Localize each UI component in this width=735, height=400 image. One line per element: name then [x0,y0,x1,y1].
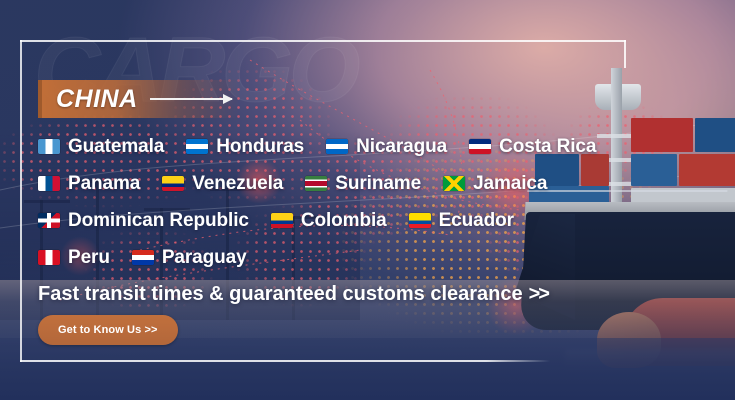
destination-row: GuatemalaHondurasNicaraguaCosta Rica [38,128,678,165]
destination-name: Colombia [301,210,387,232]
destination-item[interactable]: Colombia [271,210,387,232]
destination-item[interactable]: Guatemala [38,136,164,158]
destination-name: Venezuela [192,173,283,195]
banner-content: CHINA GuatemalaHondurasNicaraguaCosta Ri… [0,0,735,400]
destination-row: PanamaVenezuelaSurinameJamaica [38,165,678,202]
destination-name: Paraguay [162,247,247,269]
destination-item[interactable]: Suriname [305,173,421,195]
destination-name: Peru [68,247,110,269]
destination-item[interactable]: Nicaragua [326,136,447,158]
flag-nicaragua-icon [326,139,348,154]
tagline: Fast transit times & guaranteed customs … [38,283,548,306]
destination-name: Jamaica [473,173,547,195]
destination-item[interactable]: Venezuela [162,173,283,195]
flag-peru-icon [38,250,60,265]
destination-name: Nicaragua [356,136,447,158]
flag-guatemala-icon [38,139,60,154]
long-right-arrow-icon [150,98,232,100]
flag-jamaica-icon [443,176,465,191]
flag-paraguay-icon [132,250,154,265]
destination-row: PeruParaguay [38,239,678,276]
tagline-text: Fast transit times & guaranteed customs … [38,283,523,305]
destination-item[interactable]: Ecuador [409,210,514,232]
destination-item[interactable]: Honduras [186,136,304,158]
flag-honduras-icon [186,139,208,154]
flag-suriname-icon [305,176,327,191]
chevron-right-double-icon: >> [529,283,548,305]
destination-item[interactable]: Dominican Republic [38,210,249,232]
destination-item[interactable]: Paraguay [132,247,247,269]
destination-name: Guatemala [68,136,164,158]
destination-name: Suriname [335,173,421,195]
destination-item[interactable]: Costa Rica [469,136,596,158]
shipping-route-banner: CARGO [0,0,735,400]
flag-dominican-republic-icon [38,213,60,228]
destination-name: Dominican Republic [68,210,249,232]
destination-item[interactable]: Peru [38,247,110,269]
destination-item[interactable]: Jamaica [443,173,547,195]
destination-country-list: GuatemalaHondurasNicaraguaCosta RicaPana… [38,128,678,276]
destination-name: Panama [68,173,140,195]
destination-name: Ecuador [439,210,514,232]
flag-venezuela-icon [162,176,184,191]
flag-panama-icon [38,176,60,191]
get-to-know-us-button[interactable]: Get to Know Us >> [38,315,178,345]
flag-costa-rica-icon [469,139,491,154]
destination-name: Costa Rica [499,136,596,158]
destination-name: Honduras [216,136,304,158]
flag-colombia-icon [271,213,293,228]
destination-row: Dominican RepublicColombiaEcuador [38,202,678,239]
destination-item[interactable]: Panama [38,173,140,195]
flag-ecuador-icon [409,213,431,228]
origin-country-label: CHINA [56,85,138,114]
